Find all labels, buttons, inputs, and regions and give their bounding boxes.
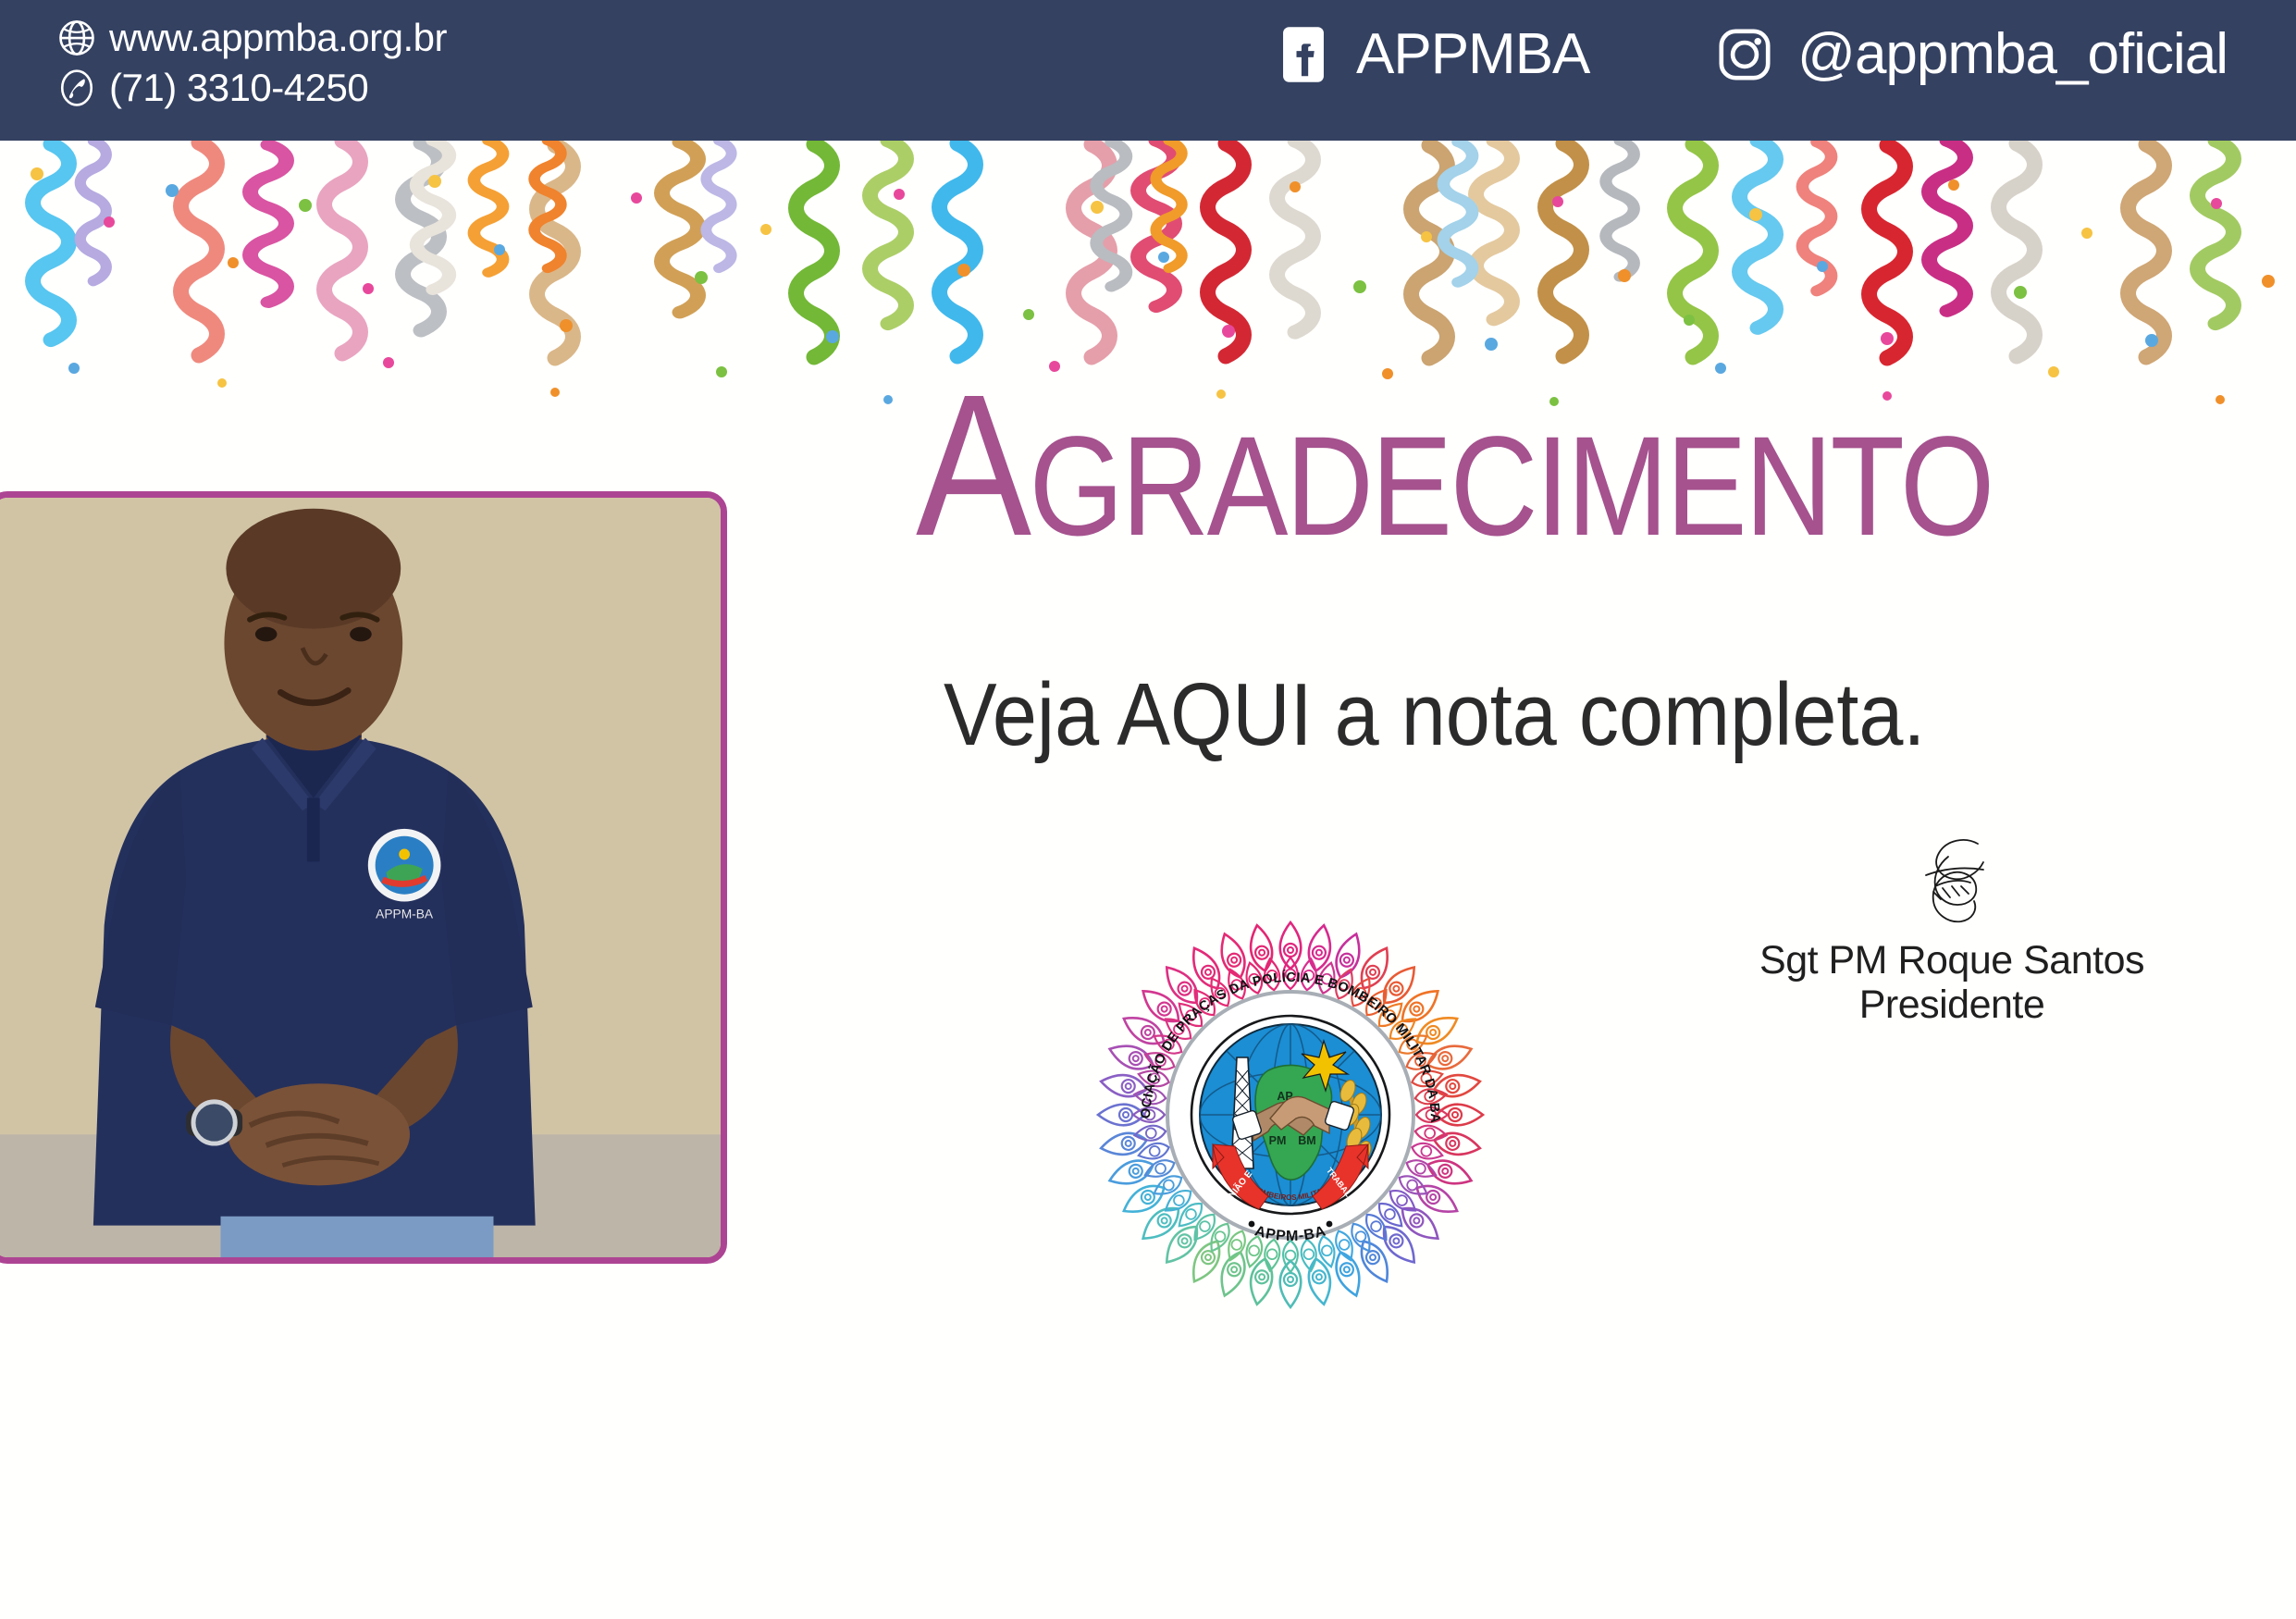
signature-block: Sgt PM Roque Santos Presidente [1739,833,2165,1027]
signature-name: Sgt PM Roque Santos [1739,938,2165,983]
poster-root: www.appmba.org.br (71) 3310-4250 APPMBA [0,0,2296,1619]
photo-illustration: APPM-BA [0,498,721,1257]
svg-text:APPM-BA: APPM-BA [376,907,434,921]
subtitle-text: Veja AQUI a nota completa. [944,671,1925,760]
page-title-text: Agradecimento [916,365,2030,567]
facebook-icon [1275,26,1332,83]
appm-ba-seal: ASSOCIAÇÃO DE PRAÇAS DA POLÍCIA E BOMBEI… [1096,902,1485,1309]
phone-circle-icon [57,68,96,107]
subtitle: Veja AQUI a nota completa. [944,671,2034,760]
presidente-photo: APPM-BA [0,491,727,1264]
page-title: Agradecimento [916,365,2211,567]
seal-label-bm: BM [1298,1134,1315,1147]
instagram-icon [1716,26,1773,83]
handwritten-signature [1869,833,2035,934]
contact-block: www.appmba.org.br (71) 3310-4250 [57,13,447,113]
facebook-handle: APPMBA [1356,26,1589,83]
website-text: www.appmba.org.br [109,16,447,60]
phone-text: (71) 3310-4250 [109,66,368,110]
seal-dot-right [1327,1221,1333,1228]
instagram-handle: @appmba_oficial [1797,26,2228,83]
website-line[interactable]: www.appmba.org.br [57,13,447,63]
instagram-block[interactable]: @appmba_oficial [1716,26,2228,83]
facebook-block[interactable]: APPMBA [1275,26,1589,83]
top-contact-bar: www.appmba.org.br (71) 3310-4250 APPMBA [0,0,2296,141]
seal-label-ap: AP [1277,1090,1292,1103]
seal-dot-left [1249,1221,1255,1228]
globe-icon [57,19,96,57]
seal-label-pm: PM [1269,1134,1287,1147]
phone-line[interactable]: (71) 3310-4250 [57,63,447,113]
seal-svg: ASSOCIAÇÃO DE PRAÇAS DA POLÍCIA E BOMBEI… [1096,902,1485,1309]
signature-role: Presidente [1739,983,2165,1027]
